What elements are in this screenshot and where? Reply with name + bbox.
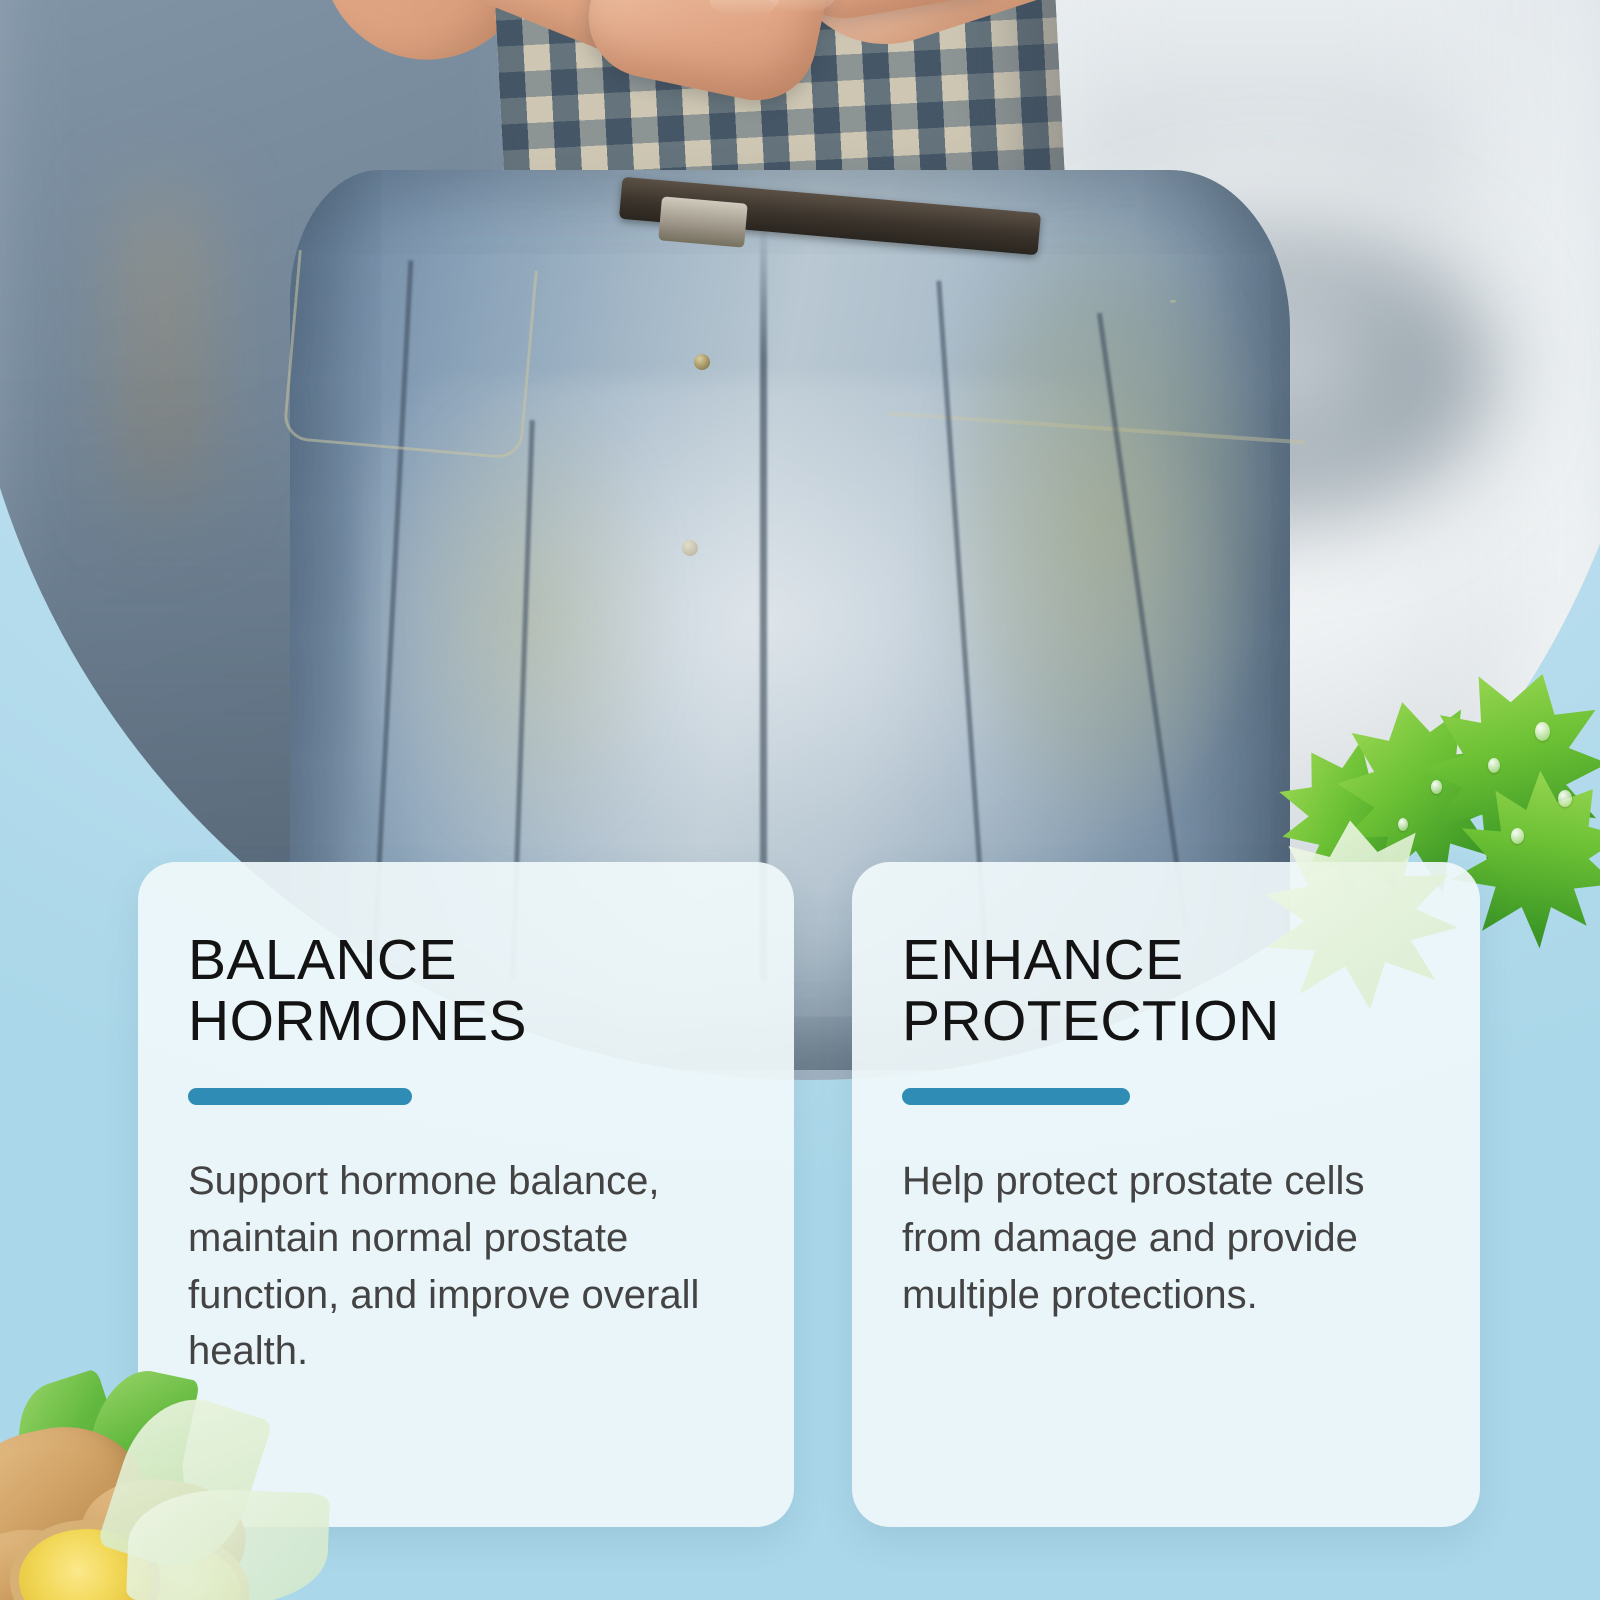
poster-root: BALANCE HORMONES Support hormone balance…: [0, 0, 1600, 1600]
accent-bar: [188, 1088, 412, 1105]
ginger-root-decoration: [0, 1360, 300, 1600]
accent-bar: [902, 1088, 1130, 1105]
card-body-text: Support hormone balance, maintain normal…: [188, 1153, 728, 1380]
card-body-text: Help protect prostate cells from damage …: [902, 1153, 1372, 1323]
card-title: BALANCE HORMONES: [188, 930, 734, 1052]
